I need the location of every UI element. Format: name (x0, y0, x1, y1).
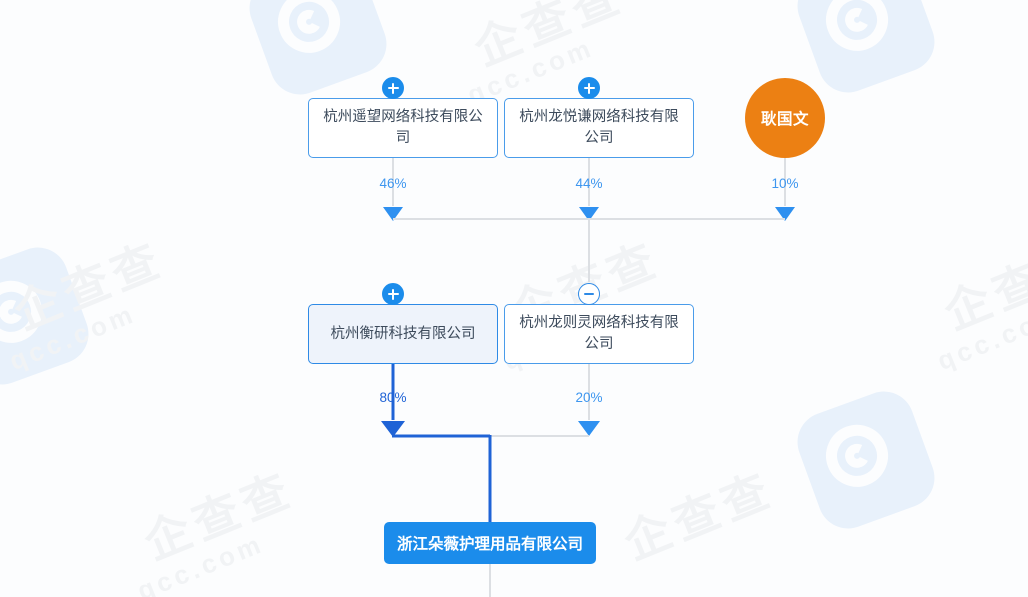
minus-icon-bar (584, 293, 594, 295)
plus-icon-vertical-bar (588, 83, 590, 94)
node-genguowen-label[interactable]: 耿国文 (745, 78, 825, 158)
percent-hengyan: 80% (363, 390, 423, 405)
node-longzeling[interactable]: 杭州龙则灵网络科技有限公司 (504, 304, 694, 364)
node-yaowang-label[interactable]: 杭州遥望网络科技有限公司 (308, 98, 498, 158)
node-genguowen[interactable]: 耿国文 (745, 78, 825, 158)
node-yaowang[interactable]: 杭州遥望网络科技有限公司 (308, 98, 498, 158)
percent-longyueqian: 44% (559, 176, 619, 191)
arrowhead-longzeling (578, 421, 600, 436)
collapse-toggle-longzeling[interactable] (578, 283, 600, 305)
node-longyueqian-label[interactable]: 杭州龙悦谦网络科技有限公司 (504, 98, 694, 158)
node-hengyan[interactable]: 杭州衡研科技有限公司 (308, 304, 498, 364)
node-hengyan-label[interactable]: 杭州衡研科技有限公司 (308, 304, 498, 364)
node-longzeling-label[interactable]: 杭州龙则灵网络科技有限公司 (504, 304, 694, 364)
expand-toggle-longyueqian[interactable] (578, 77, 600, 99)
percent-yaowang: 46% (363, 176, 423, 191)
expand-toggle-hengyan[interactable] (382, 283, 404, 305)
connector-edges (0, 0, 1028, 597)
equity-structure-chart: 企查查 qcc.com 企查查 qcc.com 企查查 qcc.com 企查查 … (0, 0, 1028, 597)
percent-genguowen: 10% (755, 176, 815, 191)
node-duowei[interactable]: 浙江朵薇护理用品有限公司 (384, 522, 596, 564)
plus-icon-vertical-bar (392, 83, 394, 94)
percent-longzeling: 20% (559, 390, 619, 405)
node-duowei-label[interactable]: 浙江朵薇护理用品有限公司 (384, 522, 596, 564)
plus-icon-vertical-bar (392, 289, 394, 300)
expand-toggle-yaowang[interactable] (382, 77, 404, 99)
node-longyueqian[interactable]: 杭州龙悦谦网络科技有限公司 (504, 98, 694, 158)
